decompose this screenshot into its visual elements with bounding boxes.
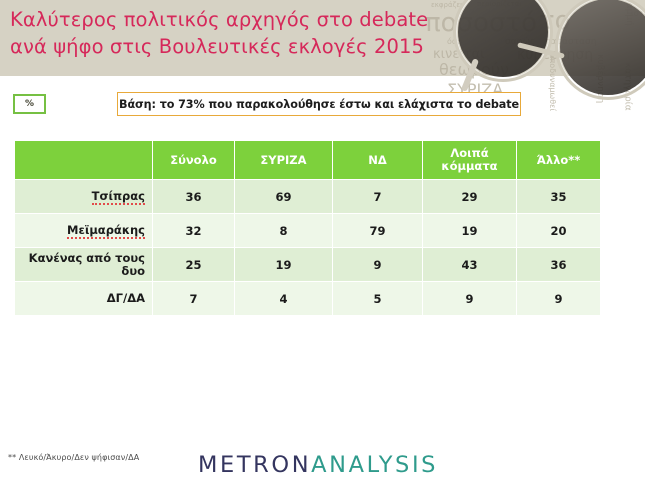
- cell-kanenas-sinolo: 25: [153, 248, 235, 282]
- table-header-syriza: ΣΥΡΙΖΑ: [235, 141, 333, 180]
- cell-tsipras-sinolo: 36: [153, 180, 235, 214]
- table-row: ΔΓ/ΔΑ 7 4 5 9 9: [15, 282, 601, 316]
- cell-kanenas-allo: 36: [517, 248, 601, 282]
- cell-meimarakis-loipa: 19: [423, 214, 517, 248]
- row-label-meimarakis: Μεϊμαράκης: [15, 214, 153, 248]
- metron-analysis-logo: METRONANALYSIS: [198, 452, 438, 478]
- base-note-text: Βάση: το 73% που παρακολούθησε έστω και …: [119, 98, 519, 111]
- page-title: Καλύτερος πολιτικός αρχηγός στο debate α…: [10, 6, 430, 60]
- cell-meimarakis-sinolo: 32: [153, 214, 235, 248]
- cell-dgda-syriza: 4: [235, 282, 333, 316]
- cell-meimarakis-nd: 79: [333, 214, 423, 248]
- table-row: Τσίπρας 36 69 7 29 35: [15, 180, 601, 214]
- percent-unit-chip: %: [13, 94, 46, 114]
- logo-analysis-text: ANALYSIS: [311, 452, 438, 478]
- table-header-loipa-kommata: Λοιπά κόμματα: [423, 141, 517, 180]
- results-table: Σύνολο ΣΥΡΙΖΑ ΝΔ Λοιπά κόμματα Άλλο** Τσ…: [14, 140, 601, 316]
- base-note-box: Βάση: το 73% που παρακολούθησε έστω και …: [117, 92, 521, 116]
- table-row: Κανένας από τους δυο 25 19 9 43 36: [15, 248, 601, 282]
- logo-metron-text: METRON: [198, 452, 311, 478]
- percent-chip-label: %: [25, 99, 34, 109]
- footnote: ** Λευκό/Άκυρο/Δεν ψήφισαν/ΔΑ: [8, 453, 139, 462]
- cell-meimarakis-syriza: 8: [235, 214, 333, 248]
- table-header-allo: Άλλο**: [517, 141, 601, 180]
- cell-kanenas-syriza: 19: [235, 248, 333, 282]
- table-header-nd: ΝΔ: [333, 141, 423, 180]
- cell-tsipras-nd: 7: [333, 180, 423, 214]
- cell-dgda-nd: 5: [333, 282, 423, 316]
- cell-dgda-loipa: 9: [423, 282, 517, 316]
- row-label-tsipras: Τσίπρας: [15, 180, 153, 214]
- cell-tsipras-loipa: 29: [423, 180, 517, 214]
- cell-tsipras-syriza: 69: [235, 180, 333, 214]
- table-row: Μεϊμαράκης 32 8 79 19 20: [15, 214, 601, 248]
- row-label-text: Μεϊμαράκης: [67, 223, 145, 239]
- row-label-text: Τσίπρας: [92, 189, 145, 205]
- table-header-corner: [15, 141, 153, 180]
- cell-tsipras-allo: 35: [517, 180, 601, 214]
- cell-meimarakis-allo: 20: [517, 214, 601, 248]
- cell-kanenas-nd: 9: [333, 248, 423, 282]
- row-label-dg-da: ΔΓ/ΔΑ: [15, 282, 153, 316]
- table-header-row: Σύνολο ΣΥΡΙΖΑ ΝΔ Λοιπά κόμματα Άλλο**: [15, 141, 601, 180]
- cell-kanenas-loipa: 43: [423, 248, 517, 282]
- cell-dgda-sinolo: 7: [153, 282, 235, 316]
- cell-dgda-allo: 9: [517, 282, 601, 316]
- row-label-kanenas: Κανένας από τους δυο: [15, 248, 153, 282]
- table-header-sinolo: Σύνολο: [153, 141, 235, 180]
